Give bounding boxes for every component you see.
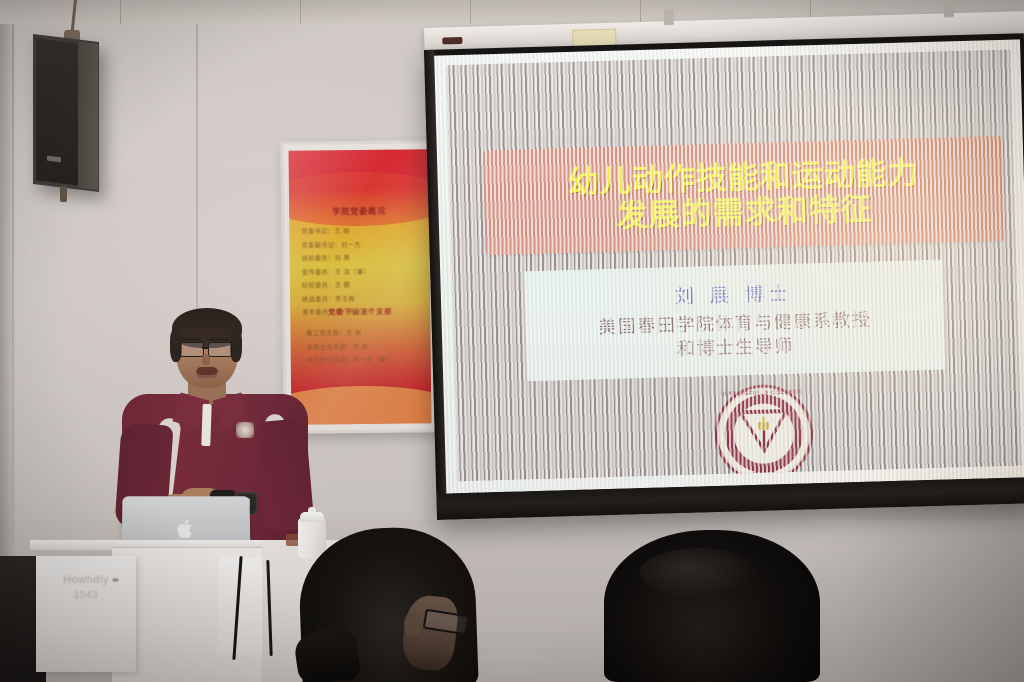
white-box-label-secondary: 1043 <box>36 590 136 601</box>
wall-speaker <box>33 34 99 192</box>
poster-surface: 学院党委概况 党委书记：王 刚 党委副书记：刘一杰 组织委员：刘 燕 宣传委员：… <box>289 149 432 424</box>
presenter-nose <box>202 354 210 365</box>
glasses-bridge <box>202 347 209 349</box>
glasses-lens-left <box>180 342 204 357</box>
apple-logo-icon <box>176 518 195 540</box>
speaker-side-panel <box>78 41 98 189</box>
presentation-slide: 幼儿动作技能和运动能力 发展的需求和特征 刘 展 博士 美国春田学院体育与健康系… <box>446 50 1021 482</box>
presenter-mouth <box>196 367 218 378</box>
poster-glass-glare <box>289 149 432 424</box>
screen-ir-receiver <box>442 37 462 45</box>
shirt-chest-emblem <box>236 422 254 438</box>
presenter-eyebrow <box>181 338 201 341</box>
audience-left-ear <box>404 612 422 636</box>
white-box-label: Howhdiy <box>36 574 136 586</box>
white-box-hole <box>112 578 119 582</box>
screen-bracket <box>943 1 953 17</box>
thermos-knob <box>308 507 316 513</box>
speaker-mount-foot <box>60 186 67 202</box>
screen-bracket <box>664 9 674 25</box>
audience-right-hair-highlight <box>640 548 760 598</box>
speaker-grille <box>36 38 78 185</box>
projection-screen: 幼儿动作技能和运动能力 发展的需求和特征 刘 展 博士 美国春田学院体育与健康系… <box>424 33 1024 520</box>
presenter-eyebrow <box>209 338 229 341</box>
projector-hotspot <box>446 50 1021 482</box>
white-equipment-box: Howhdiy 1043 <box>36 556 136 672</box>
glasses-lens-right <box>208 342 232 357</box>
thermos-lid <box>300 512 324 522</box>
lecture-room-photo: 学院党委概况 党委书记：王 刚 党委副书记：刘一杰 组织委员：刘 燕 宣传委员：… <box>0 0 1024 682</box>
shirt-placket <box>201 404 211 446</box>
screen-surface: 幼儿动作技能和运动能力 发展的需求和特征 刘 展 博士 美国春田学院体育与健康系… <box>432 39 1024 493</box>
